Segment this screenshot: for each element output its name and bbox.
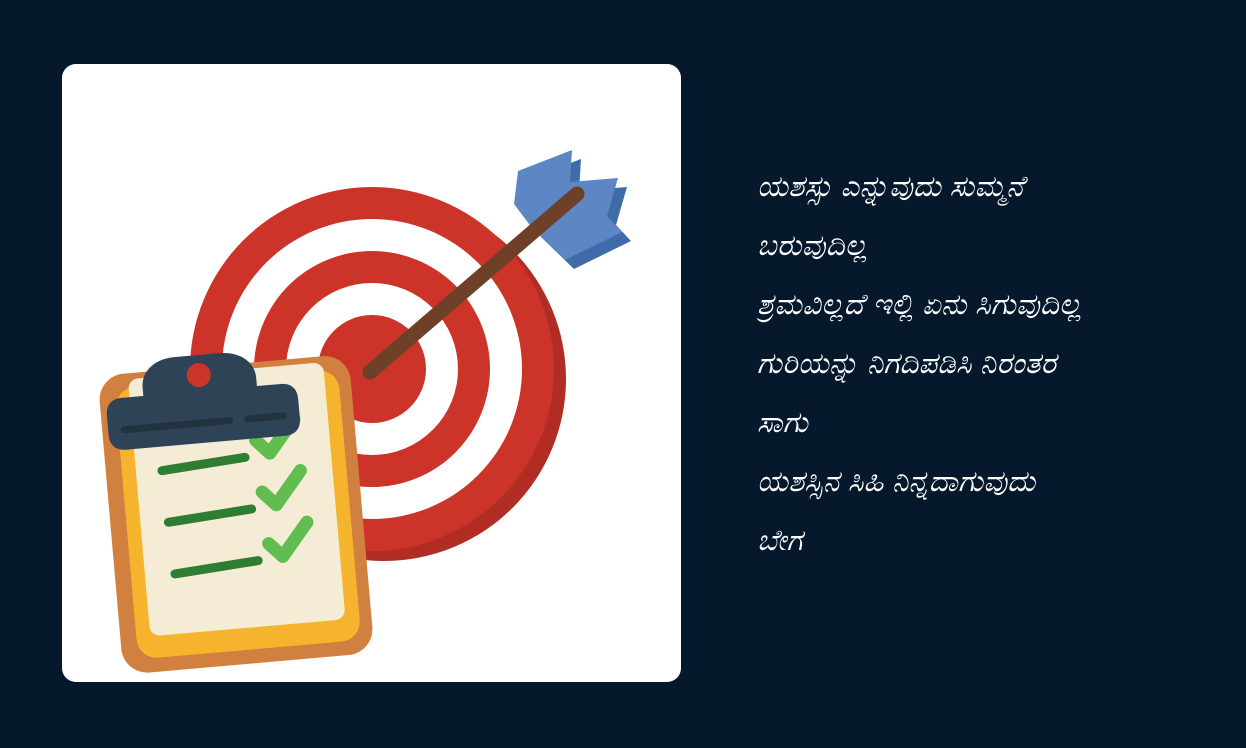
quote-line-7: ಬೇಗ: [757, 512, 1227, 571]
quote-line-1: ಯಶಸ್ಸು ಎನ್ನುವುದು ಸುಮ್ಮನೆ: [757, 158, 1227, 217]
quote-card-canvas: ಯಶಸ್ಸು ಎನ್ನುವುದು ಸುಮ್ಮನೆ ಬರುವುದಿಲ್ಲ ಶ್ರಮ…: [0, 0, 1246, 748]
quote-text-block: ಯಶಸ್ಸು ಎನ್ನುವುದು ಸುಮ್ಮನೆ ಬರುವುದಿಲ್ಲ ಶ್ರಮ…: [757, 158, 1227, 571]
quote-line-4: ಗುರಿಯನ್ನು ನಿಗದಿಪಡಿಸಿ ನಿರಂತರ: [757, 335, 1227, 394]
quote-line-2: ಬರುವುದಿಲ್ಲ: [757, 217, 1227, 276]
clipboard-graphic: [96, 342, 374, 675]
illustration-card: [62, 64, 681, 682]
quote-line-6: ಯಶಸ್ಸಿನ ಸಿಹಿ ನಿನ್ನದಾಗುವುದು: [757, 453, 1227, 512]
target-with-arrow-and-clipboard-illustration: [62, 64, 681, 682]
quote-line-5: ಸಾಗು: [757, 394, 1227, 453]
clip-bar-short: [248, 416, 284, 419]
quote-line-3: ಶ್ರಮವಿಲ್ಲದೆ ಇಲ್ಲಿ ಏನು ಸಿಗುವುದಿಲ್ಲ: [757, 276, 1227, 335]
arrow-tip: [363, 365, 378, 380]
